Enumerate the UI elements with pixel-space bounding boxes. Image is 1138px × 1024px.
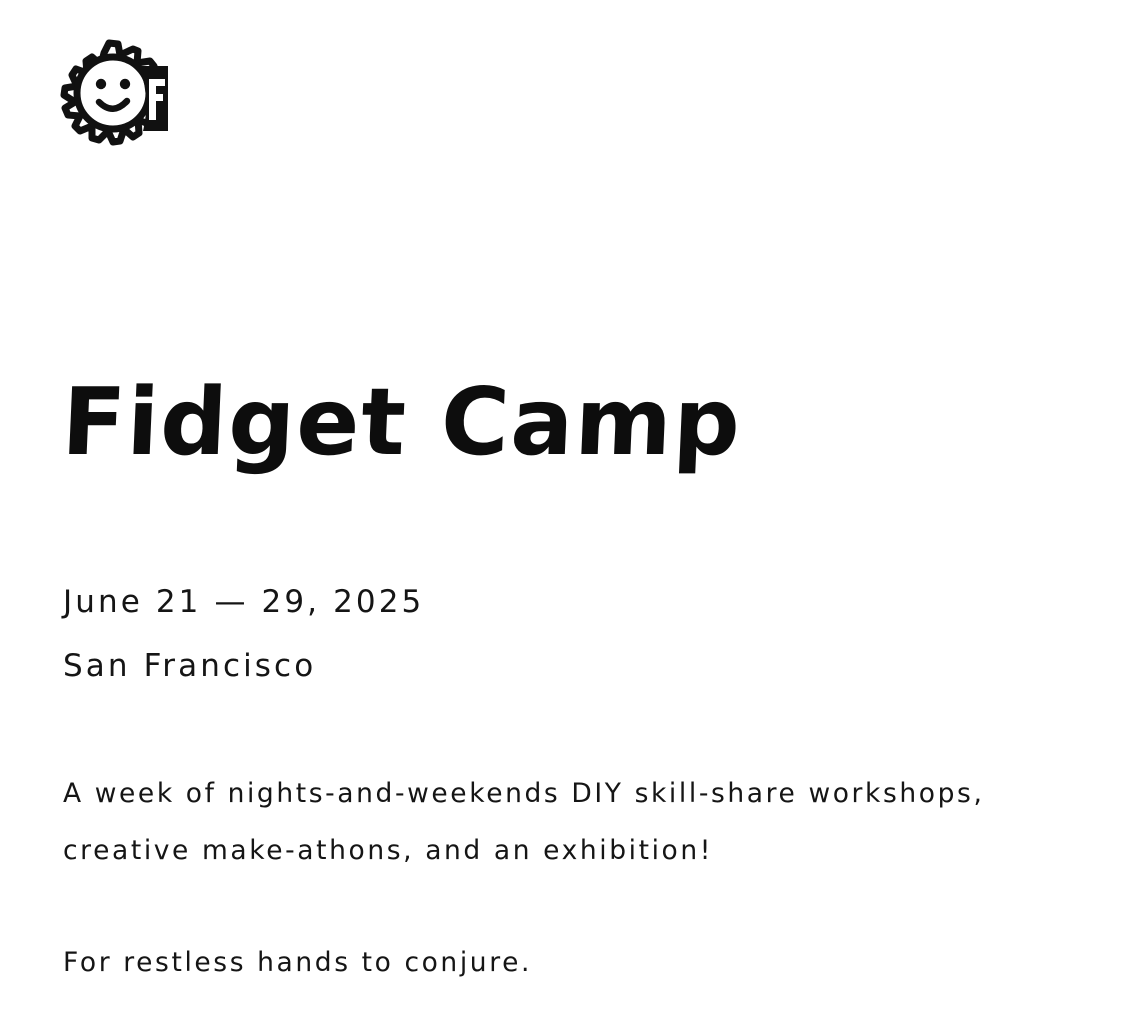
- event-meta-list: June 21 — 29, 2025 San Francisco: [63, 570, 424, 698]
- event-description: A week of nights-and-weekends DIY skill-…: [63, 765, 1093, 991]
- site-logo[interactable]: [47, 36, 175, 158]
- description-line-1: A week of nights-and-weekends DIY skill-…: [63, 765, 1093, 822]
- description-line-2: creative make-athons, and an exhibition!: [63, 822, 1093, 879]
- gear-smiley-face-icon: [47, 36, 175, 158]
- page-title: Fidget Camp: [60, 376, 744, 469]
- event-dates: June 21 — 29, 2025: [63, 570, 424, 634]
- tagline: For restless hands to conjure.: [63, 934, 1093, 991]
- event-location: San Francisco: [63, 634, 424, 698]
- poster-page: Fidget Camp June 21 — 29, 2025 San Franc…: [0, 0, 1138, 1024]
- paragraph-spacer: [63, 879, 1093, 934]
